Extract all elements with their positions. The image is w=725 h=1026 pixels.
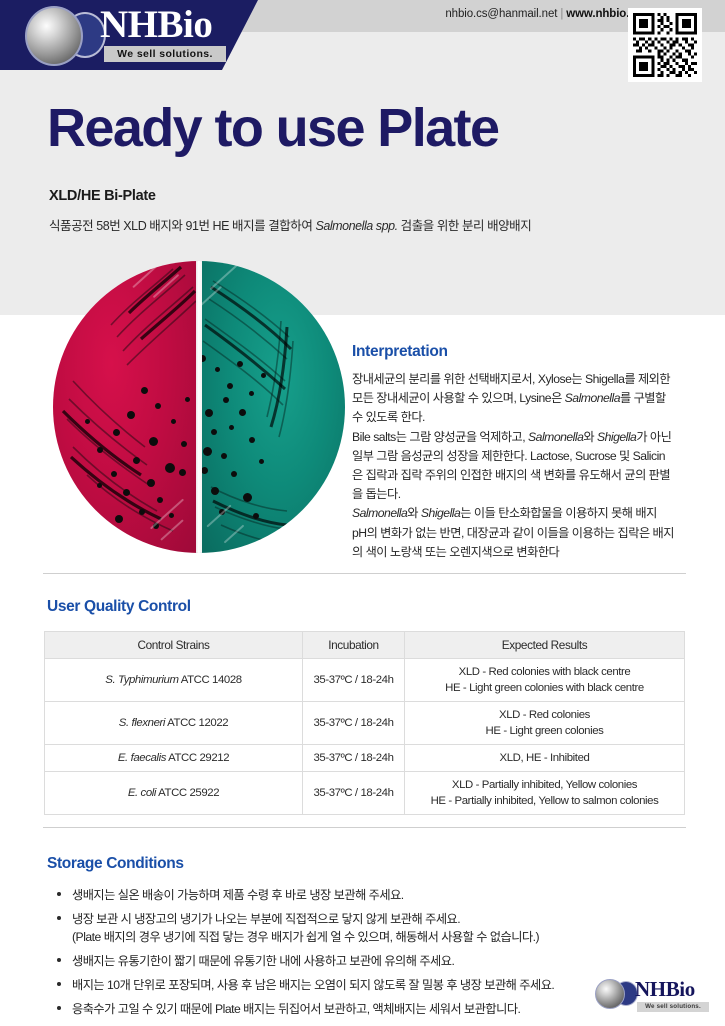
list-item: 냉장 보관 시 냉장고의 냉기가 나오는 부분에 직접적으로 닿지 않게 보관해… <box>56 910 676 946</box>
colony-dot <box>141 387 148 394</box>
product-name: XLD/HE Bi-Plate <box>49 188 156 204</box>
contact-email[interactable]: nhbio.cs@hanmail.net <box>445 8 557 20</box>
interpretation-paragraph: Bile salts는 그람 양성균을 억제하고, Salmonella와 Sh… <box>352 428 674 505</box>
section-divider-top <box>43 573 686 574</box>
table-row: E. coli ATCC 2592235-37ºC / 18-24hXLD - … <box>45 772 685 815</box>
strain-atcc: ATCC 29212 <box>166 752 229 764</box>
bullet-dot-icon <box>57 892 61 896</box>
strain-atcc: ATCC 14028 <box>179 674 242 686</box>
list-item: 생배지는 유통기한이 짧기 때문에 유통기한 내에 사용하고 보관에 유의해 주… <box>56 952 676 970</box>
result-line: HE - Partially inhibited, Yellow to salm… <box>409 793 680 809</box>
contact-separator: | <box>557 8 566 20</box>
colony-dot <box>181 441 187 447</box>
colony-dot <box>211 429 217 435</box>
colony-dot <box>259 459 264 464</box>
species-name: S. flexneri <box>119 717 165 729</box>
colony-dot <box>147 479 155 487</box>
result-line: XLD - Partially inhibited, Yellow coloni… <box>409 777 680 793</box>
desc-part-1: 식품공전 58번 XLD 배지와 91번 HE 배지를 결합하여 <box>49 219 315 233</box>
qr-code-icon[interactable] <box>628 8 702 82</box>
list-item-text: 생배지는 실온 배송이 가능하며 제품 수령 후 바로 냉장 보관해 주세요. <box>72 888 404 902</box>
bullet-dot-icon <box>57 916 61 920</box>
species-name: Salmonella <box>565 391 620 405</box>
column-header-control-strains: Control Strains <box>45 632 303 659</box>
colony-dot <box>149 437 158 446</box>
colony-dot <box>85 419 90 424</box>
colony-dot <box>253 513 259 519</box>
petri-dish-photo <box>53 261 345 553</box>
footer-brand-logo: NHBio We sell solutions. <box>592 978 716 1020</box>
species-name: E. coli <box>128 787 156 799</box>
column-header-incubation: Incubation <box>303 632 405 659</box>
list-item-text: 냉장 보관 시 냉장고의 냉기가 나오는 부분에 직접적으로 닿지 않게 보관해… <box>72 912 460 926</box>
colony-dot <box>223 397 229 403</box>
column-header-expected-results: Expected Results <box>405 632 685 659</box>
colony-dot <box>113 429 120 436</box>
colony-dot <box>231 471 237 477</box>
cell-control-strain: E. coli ATCC 25922 <box>45 772 303 815</box>
colony-dot <box>249 437 255 443</box>
table-header-row: Control Strains Incubation Expected Resu… <box>45 632 685 659</box>
result-line: HE - Light green colonies <box>409 723 680 739</box>
species-name: Shigella <box>421 506 460 520</box>
species-name: Salmonella <box>352 506 407 520</box>
petri-dish-circle <box>53 261 345 553</box>
interpretation-paragraph: Salmonella와 Shigella는 이들 탄소화합물을 이용하지 못해 … <box>352 504 674 562</box>
list-item: 응축수가 고일 수 있기 때문에 Plate 배지는 뒤집어서 보관하고, 액체… <box>56 1000 676 1018</box>
logo-wordmark: NHBio <box>100 4 212 46</box>
cell-incubation: 35-37ºC / 18-24h <box>303 772 405 815</box>
species-name: Salmonella <box>528 430 583 444</box>
colony-dot <box>165 463 175 473</box>
cell-incubation: 35-37ºC / 18-24h <box>303 745 405 772</box>
cell-control-strain: E. faecalis ATCC 29212 <box>45 745 303 772</box>
list-item: 생배지는 실온 배송이 가능하며 제품 수령 후 바로 냉장 보관해 주세요. <box>56 886 676 904</box>
section-divider-bottom <box>43 827 686 828</box>
cell-incubation: 35-37ºC / 18-24h <box>303 659 405 702</box>
header-contact-info: nhbio.cs@hanmail.net|www.nhbio.kr <box>300 8 640 20</box>
table-row: E. faecalis ATCC 2921235-37ºC / 18-24hXL… <box>45 745 685 772</box>
colony-dot <box>169 513 174 518</box>
colony-dot <box>215 367 220 372</box>
list-item-text: 배지는 10개 단위로 포장되며, 사용 후 남은 배지는 오염이 되지 않도록… <box>72 978 554 992</box>
colony-dot <box>115 515 123 523</box>
colony-dot <box>205 409 213 417</box>
footer-logo-tagline: We sell solutions. <box>637 1002 709 1012</box>
storage-list: 생배지는 실온 배송이 가능하며 제품 수령 후 바로 냉장 보관해 주세요.냉… <box>56 886 676 1024</box>
colony-dot <box>201 467 208 474</box>
storage-heading: Storage Conditions <box>47 855 184 873</box>
cell-incubation: 35-37ºC / 18-24h <box>303 702 405 745</box>
interpretation-paragraph: 장내세균의 분리를 위한 선택배지로서, Xylose는 Shigella를 제… <box>352 370 674 428</box>
table-body: S. Typhimurium ATCC 1402835-37ºC / 18-24… <box>45 659 685 815</box>
colony-dot <box>133 457 140 464</box>
table-row: S. Typhimurium ATCC 1402835-37ºC / 18-24… <box>45 659 685 702</box>
colony-dot <box>139 509 145 515</box>
text-segment: 와 <box>583 430 597 444</box>
colony-dot <box>203 447 212 456</box>
species-name: E. faecalis <box>118 752 166 764</box>
table-row: S. flexneri ATCC 1202235-37ºC / 18-24hXL… <box>45 702 685 745</box>
colony-dot <box>155 403 161 409</box>
brand-logo: NHBio We sell solutions. <box>0 0 258 70</box>
colony-dot <box>157 497 163 503</box>
text-segment: Bile salts는 그람 양성균을 억제하고, <box>352 430 528 444</box>
colony-dot <box>123 489 130 496</box>
bullet-dot-icon <box>57 1006 61 1010</box>
colony-dot <box>211 487 219 495</box>
interpretation-body: 장내세균의 분리를 위한 선택배지로서, Xylose는 Shigella를 제… <box>352 370 674 562</box>
strain-atcc: ATCC 12022 <box>165 717 228 729</box>
colony-dot <box>185 397 190 402</box>
list-item-text: 응축수가 고일 수 있기 때문에 Plate 배지는 뒤집어서 보관하고, 액체… <box>72 1002 520 1016</box>
page-title: Ready to use Plate <box>47 98 498 158</box>
list-item-text: 생배지는 유통기한이 짧기 때문에 유통기한 내에 사용하고 보관에 유의해 주… <box>72 954 454 968</box>
list-item-subtext: (Plate 배지의 경우 냉기에 직접 닿는 경우 배지가 쉽게 얼 수 있으… <box>72 928 676 946</box>
footer-logo-sphere-icon <box>595 979 625 1009</box>
cell-expected-results: XLD - Red colonies with black centreHE -… <box>405 659 685 702</box>
bullet-dot-icon <box>57 958 61 962</box>
product-description: 식품공전 58번 XLD 배지와 91번 HE 배지를 결합하여 Salmone… <box>49 217 669 235</box>
footer-logo-wordmark: NHBio <box>635 978 695 1001</box>
strain-atcc: ATCC 25922 <box>156 787 219 799</box>
colony-dot <box>239 409 246 416</box>
cell-expected-results: XLD - Partially inhibited, Yellow coloni… <box>405 772 685 815</box>
colony-dot <box>127 411 135 419</box>
colony-dot <box>237 361 243 367</box>
colony-dot <box>249 391 254 396</box>
cell-expected-results: XLD, HE - Inhibited <box>405 745 685 772</box>
colony-dot <box>243 493 252 502</box>
result-line: XLD - Red colonies with black centre <box>409 664 680 680</box>
species-name: Shigella <box>597 430 636 444</box>
colony-dot <box>111 471 117 477</box>
colony-dot <box>229 425 234 430</box>
colony-dot <box>261 373 266 378</box>
desc-italic-species: Salmonella spp. <box>315 219 397 233</box>
cell-control-strain: S. Typhimurium ATCC 14028 <box>45 659 303 702</box>
logo-tagline: We sell solutions. <box>104 46 226 62</box>
desc-part-2: 검출을 위한 분리 배양배지 <box>398 219 532 233</box>
colony-dot <box>97 483 102 488</box>
quality-control-table: Control Strains Incubation Expected Resu… <box>44 631 685 815</box>
colony-dot <box>171 419 176 424</box>
species-name: S. Typhimurium <box>105 674 178 686</box>
cell-expected-results: XLD - Red coloniesHE - Light green colon… <box>405 702 685 745</box>
result-line: XLD - Red colonies <box>409 707 680 723</box>
cell-control-strain: S. flexneri ATCC 12022 <box>45 702 303 745</box>
colony-dot <box>97 447 103 453</box>
quality-control-heading: User Quality Control <box>47 598 191 616</box>
result-line: XLD, HE - Inhibited <box>409 750 680 766</box>
text-segment: 와 <box>407 506 421 520</box>
bullet-dot-icon <box>57 982 61 986</box>
result-line: HE - Light green colonies with black cen… <box>409 680 680 696</box>
colony-dot <box>221 453 227 459</box>
logo-sphere-icon <box>25 6 83 66</box>
colony-dot <box>227 383 233 389</box>
list-item: 배지는 10개 단위로 포장되며, 사용 후 남은 배지는 오염이 되지 않도록… <box>56 976 676 994</box>
interpretation-heading: Interpretation <box>352 343 448 361</box>
poster-page: NHBio We sell solutions. nhbio.cs@hanmai… <box>0 0 725 1026</box>
colony-dot <box>179 469 186 476</box>
